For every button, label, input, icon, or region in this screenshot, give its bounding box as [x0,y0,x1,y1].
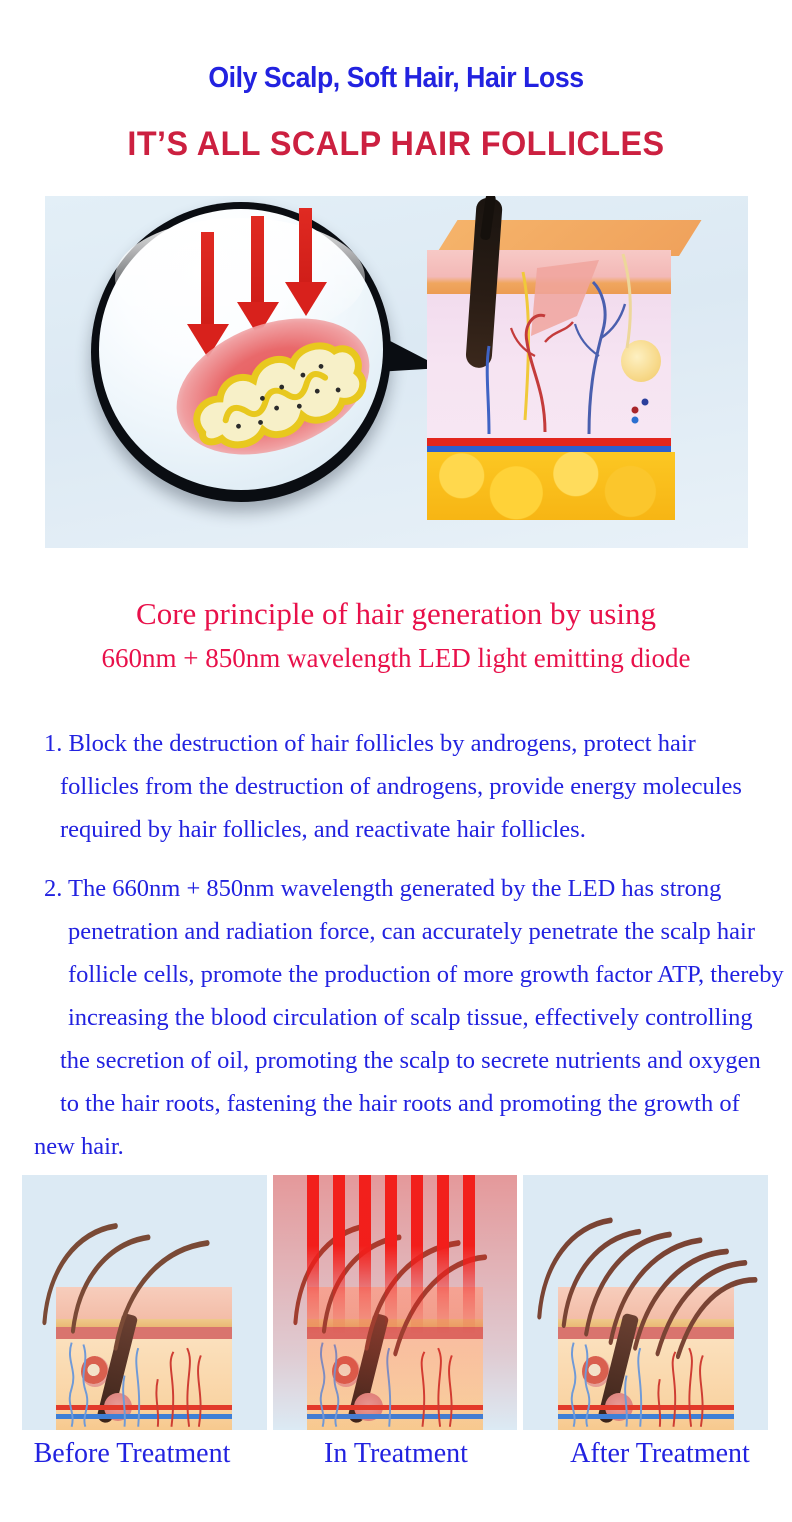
hero-illustration [45,196,748,548]
point-2-line-7: new hair. [34,1125,770,1168]
principle-heading: Core principle of hair generation by usi… [0,592,792,680]
point-1: 1. Block the destruction of hair follicl… [34,722,770,851]
principle-line-1: Core principle of hair generation by usi… [0,592,792,636]
caption-in-treatment: In Treatment [264,1438,528,1470]
hair-strands-icon [523,1175,768,1430]
fat-layer-icon [427,452,675,520]
point-1-line-3: required by hair follicles, and reactiva… [34,808,770,851]
point-2-line-6: to the hair roots, fastening the hair ro… [34,1082,770,1125]
point-1-line-1: 1. Block the destruction of hair follicl… [34,722,770,765]
panel-in-treatment [273,1175,518,1430]
panel-captions: Before Treatment In Treatment After Trea… [0,1438,792,1470]
point-2-line-3: follicle cells, promote the production o… [34,953,770,996]
skin-cross-section-icon [427,220,679,520]
point-2-line-5: the secretion of oil, promoting the scal… [34,1039,770,1082]
hair-strands-icon [22,1175,267,1430]
panel-before-treatment [22,1175,267,1430]
point-2-line-2: penetration and radiation force, can acc… [34,910,770,953]
comparison-panels [22,1175,768,1430]
caption-before-treatment: Before Treatment [0,1438,264,1470]
point-2-line-1: 2. The 660nm + 850nm wavelength generate… [34,867,770,910]
principle-line-2: 660nm + 850nm wavelength LED light emitt… [0,636,792,680]
point-2-line-4: increasing the blood circulation of scal… [34,996,770,1039]
point-1-line-2: follicles from the destruction of androg… [34,765,770,808]
red-light-beams-icon [307,1175,483,1333]
page-subtitle: Oily Scalp, Soft Hair, Hair Loss [32,62,761,95]
caption-after-treatment: After Treatment [528,1438,792,1470]
panel-after-treatment [523,1175,768,1430]
body-copy: 1. Block the destruction of hair follicl… [34,722,770,1184]
point-2: 2. The 660nm + 850nm wavelength generate… [34,867,770,1168]
page-title: IT’S ALL SCALP HAIR FOLLICLES [20,125,772,164]
